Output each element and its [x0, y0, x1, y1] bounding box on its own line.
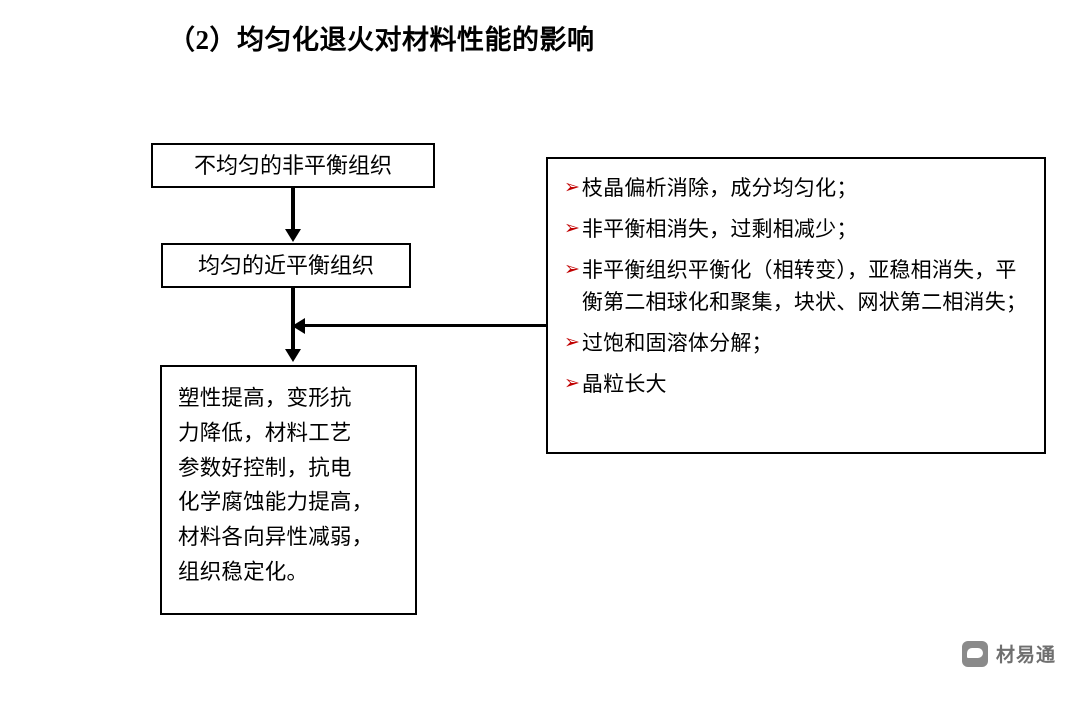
wechat-icon: [962, 641, 988, 667]
arrow-bullet-icon: ➢: [564, 255, 580, 284]
list-item: ➢ 晶粒长大: [564, 369, 1030, 401]
box3-line-4: 化学腐蚀能力提高，: [178, 485, 399, 520]
watermark-label: 材易通: [996, 640, 1056, 667]
bullet-label-2: 非平衡相消失，过剩相减少；: [582, 214, 858, 246]
arrow-box1-box2-icon: [285, 229, 301, 242]
process-box-balanced-structure: 均匀的近平衡组织: [161, 243, 411, 288]
connector-bullets-to-trunk: [303, 324, 546, 327]
box3-line-1: 塑性提高，变形抗: [178, 381, 399, 416]
slide-canvas: （2）均匀化退火对材料性能的影响 不均匀的非平衡组织 均匀的近平衡组织 塑性提高…: [0, 0, 1080, 701]
arrow-box2-box3-icon: [285, 349, 301, 362]
box3-line-3: 参数好控制，抗电: [178, 451, 399, 486]
process-box-unbalanced-structure: 不均匀的非平衡组织: [151, 143, 435, 188]
list-item: ➢ 枝晶偏析消除，成分均匀化；: [564, 173, 1030, 205]
arrow-bullets-to-trunk-icon: [292, 318, 305, 334]
bullet-label-3: 非平衡组织平衡化（相转变），亚稳相消失，平衡第二相球化和聚集，块状、网状第二相消…: [582, 255, 1030, 319]
bullet-label-1: 枝晶偏析消除，成分均匀化；: [582, 173, 858, 205]
list-item: ➢ 过饱和固溶体分解；: [564, 328, 1030, 360]
bullet-list-box: ➢ 枝晶偏析消除，成分均匀化； ➢ 非平衡相消失，过剩相减少； ➢ 非平衡组织平…: [546, 157, 1046, 454]
box2-label: 均匀的近平衡组织: [198, 254, 374, 277]
bullet-label-5: 晶粒长大: [582, 369, 667, 401]
arrow-bullet-icon: ➢: [564, 214, 580, 243]
page-title: （2）均匀化退火对材料性能的影响: [168, 18, 595, 57]
bullet-label-4: 过饱和固溶体分解；: [582, 328, 773, 360]
box1-label: 不均匀的非平衡组织: [194, 154, 392, 177]
list-item: ➢ 非平衡相消失，过剩相减少；: [564, 214, 1030, 246]
box3-line-5: 材料各向异性减弱，: [178, 520, 399, 555]
arrow-bullet-icon: ➢: [564, 369, 580, 398]
result-box-properties: 塑性提高，变形抗 力降低，材料工艺 参数好控制，抗电 化学腐蚀能力提高， 材料各…: [160, 365, 417, 615]
box3-line-6: 组织稳定化。: [178, 555, 399, 590]
arrow-bullet-icon: ➢: [564, 173, 580, 202]
box3-line-2: 力降低，材料工艺: [178, 416, 399, 451]
connector-box1-box2: [291, 188, 295, 230]
watermark: 材易通: [962, 640, 1056, 667]
arrow-bullet-icon: ➢: [564, 328, 580, 357]
list-item: ➢ 非平衡组织平衡化（相转变），亚稳相消失，平衡第二相球化和聚集，块状、网状第二…: [564, 255, 1030, 319]
